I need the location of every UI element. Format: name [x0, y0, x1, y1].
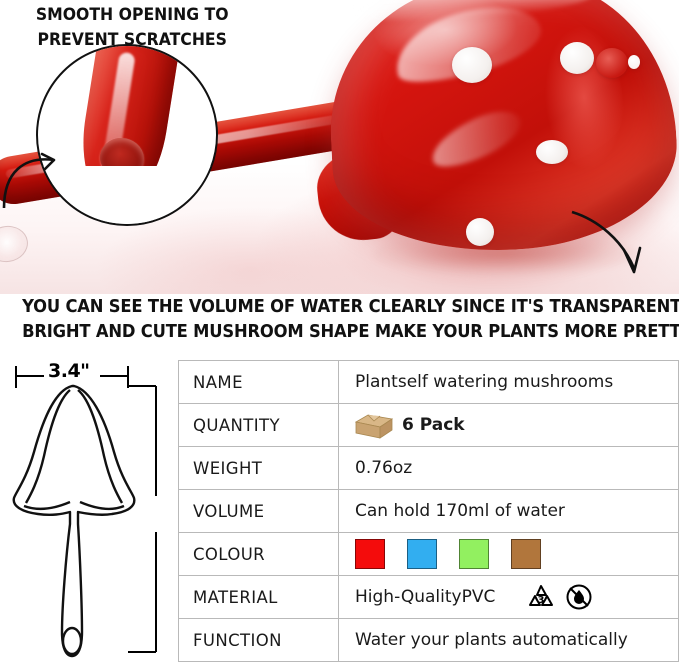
spec-label: QUANTITY — [179, 404, 339, 447]
table-row: COLOUR — [179, 533, 679, 576]
cap-dot — [536, 140, 568, 164]
mushroom-silhouette — [14, 386, 135, 656]
spec-label: VOLUME — [179, 490, 339, 533]
headline-line-2: PREVENT SCRATCHES — [22, 27, 242, 52]
mushroom-outline-drawing — [0, 356, 176, 663]
curved-arrow-icon — [568, 206, 652, 284]
spec-value: Water your plants automatically — [339, 619, 679, 662]
spec-label: MATERIAL — [179, 576, 339, 619]
spec-label: WEIGHT — [179, 447, 339, 490]
table-row: FUNCTION Water your plants automatically — [179, 619, 679, 662]
colour-swatch-green — [459, 539, 489, 569]
slogan-line-1: YOU CAN SEE THE VOLUME OF WATER CLEARLY … — [22, 294, 657, 317]
width-label: 3.4" — [48, 360, 90, 382]
table-row: VOLUME Can hold 170ml of water — [179, 490, 679, 533]
spec-label: NAME — [179, 361, 339, 404]
curved-arrow-icon — [2, 150, 64, 212]
slogan-banner: YOU CAN SEE THE VOLUME OF WATER CLEARLY … — [0, 294, 679, 356]
product-photo: SMOOTH OPENING TO PREVENT SCRATCHES — [0, 0, 679, 296]
recycle-code: 3 — [538, 595, 545, 606]
colour-swatch-list — [355, 539, 678, 569]
cap-dot — [466, 218, 494, 246]
headline: SMOOTH OPENING TO PREVENT SCRATCHES — [22, 2, 242, 52]
spec-value: Can hold 170ml of water — [339, 490, 679, 533]
table-row: NAME Plantself watering mushrooms — [179, 361, 679, 404]
slogan-line-2: BRIGHT AND CUTE MUSHROOM SHAPE MAKE YOUR… — [22, 317, 657, 342]
colour-swatch-red — [355, 539, 385, 569]
cap-dot — [452, 47, 492, 83]
product-infographic: SMOOTH OPENING TO PREVENT SCRATCHES YOU … — [0, 0, 679, 663]
spec-value: Plantself watering mushrooms — [339, 361, 679, 404]
colour-swatch-brown — [511, 539, 541, 569]
spec-label: FUNCTION — [179, 619, 339, 662]
spec-value: 0.76oz — [339, 447, 679, 490]
recycle-3-icon: 3 — [526, 583, 556, 611]
cap-dot — [560, 42, 594, 74]
material-text: High-QualityPVC — [355, 587, 495, 607]
headline-line-1: SMOOTH OPENING TO — [22, 2, 242, 27]
colour-swatch-blue — [407, 539, 437, 569]
spec-table: NAME Plantself watering mushrooms QUANTI… — [178, 360, 679, 662]
spec-value — [339, 533, 679, 576]
spec-label: COLOUR — [179, 533, 339, 576]
spec-value: High-QualityPVC 3 — [339, 576, 679, 619]
quantity-text: 6 Pack — [402, 415, 465, 435]
table-row: QUANTITY 6 Pack — [179, 404, 679, 447]
table-row: MATERIAL High-QualityPVC 3 — [179, 576, 679, 619]
cap-dot — [628, 55, 640, 69]
cardboard-box-icon — [355, 411, 393, 439]
cap-dot — [596, 48, 628, 78]
height-dimension-line — [128, 386, 156, 652]
table-row: WEIGHT 0.76oz — [179, 447, 679, 490]
no-flame-icon — [565, 583, 593, 611]
spec-value: 6 Pack — [339, 404, 679, 447]
dimension-diagram: 3.4" 7.7" — [0, 356, 176, 663]
